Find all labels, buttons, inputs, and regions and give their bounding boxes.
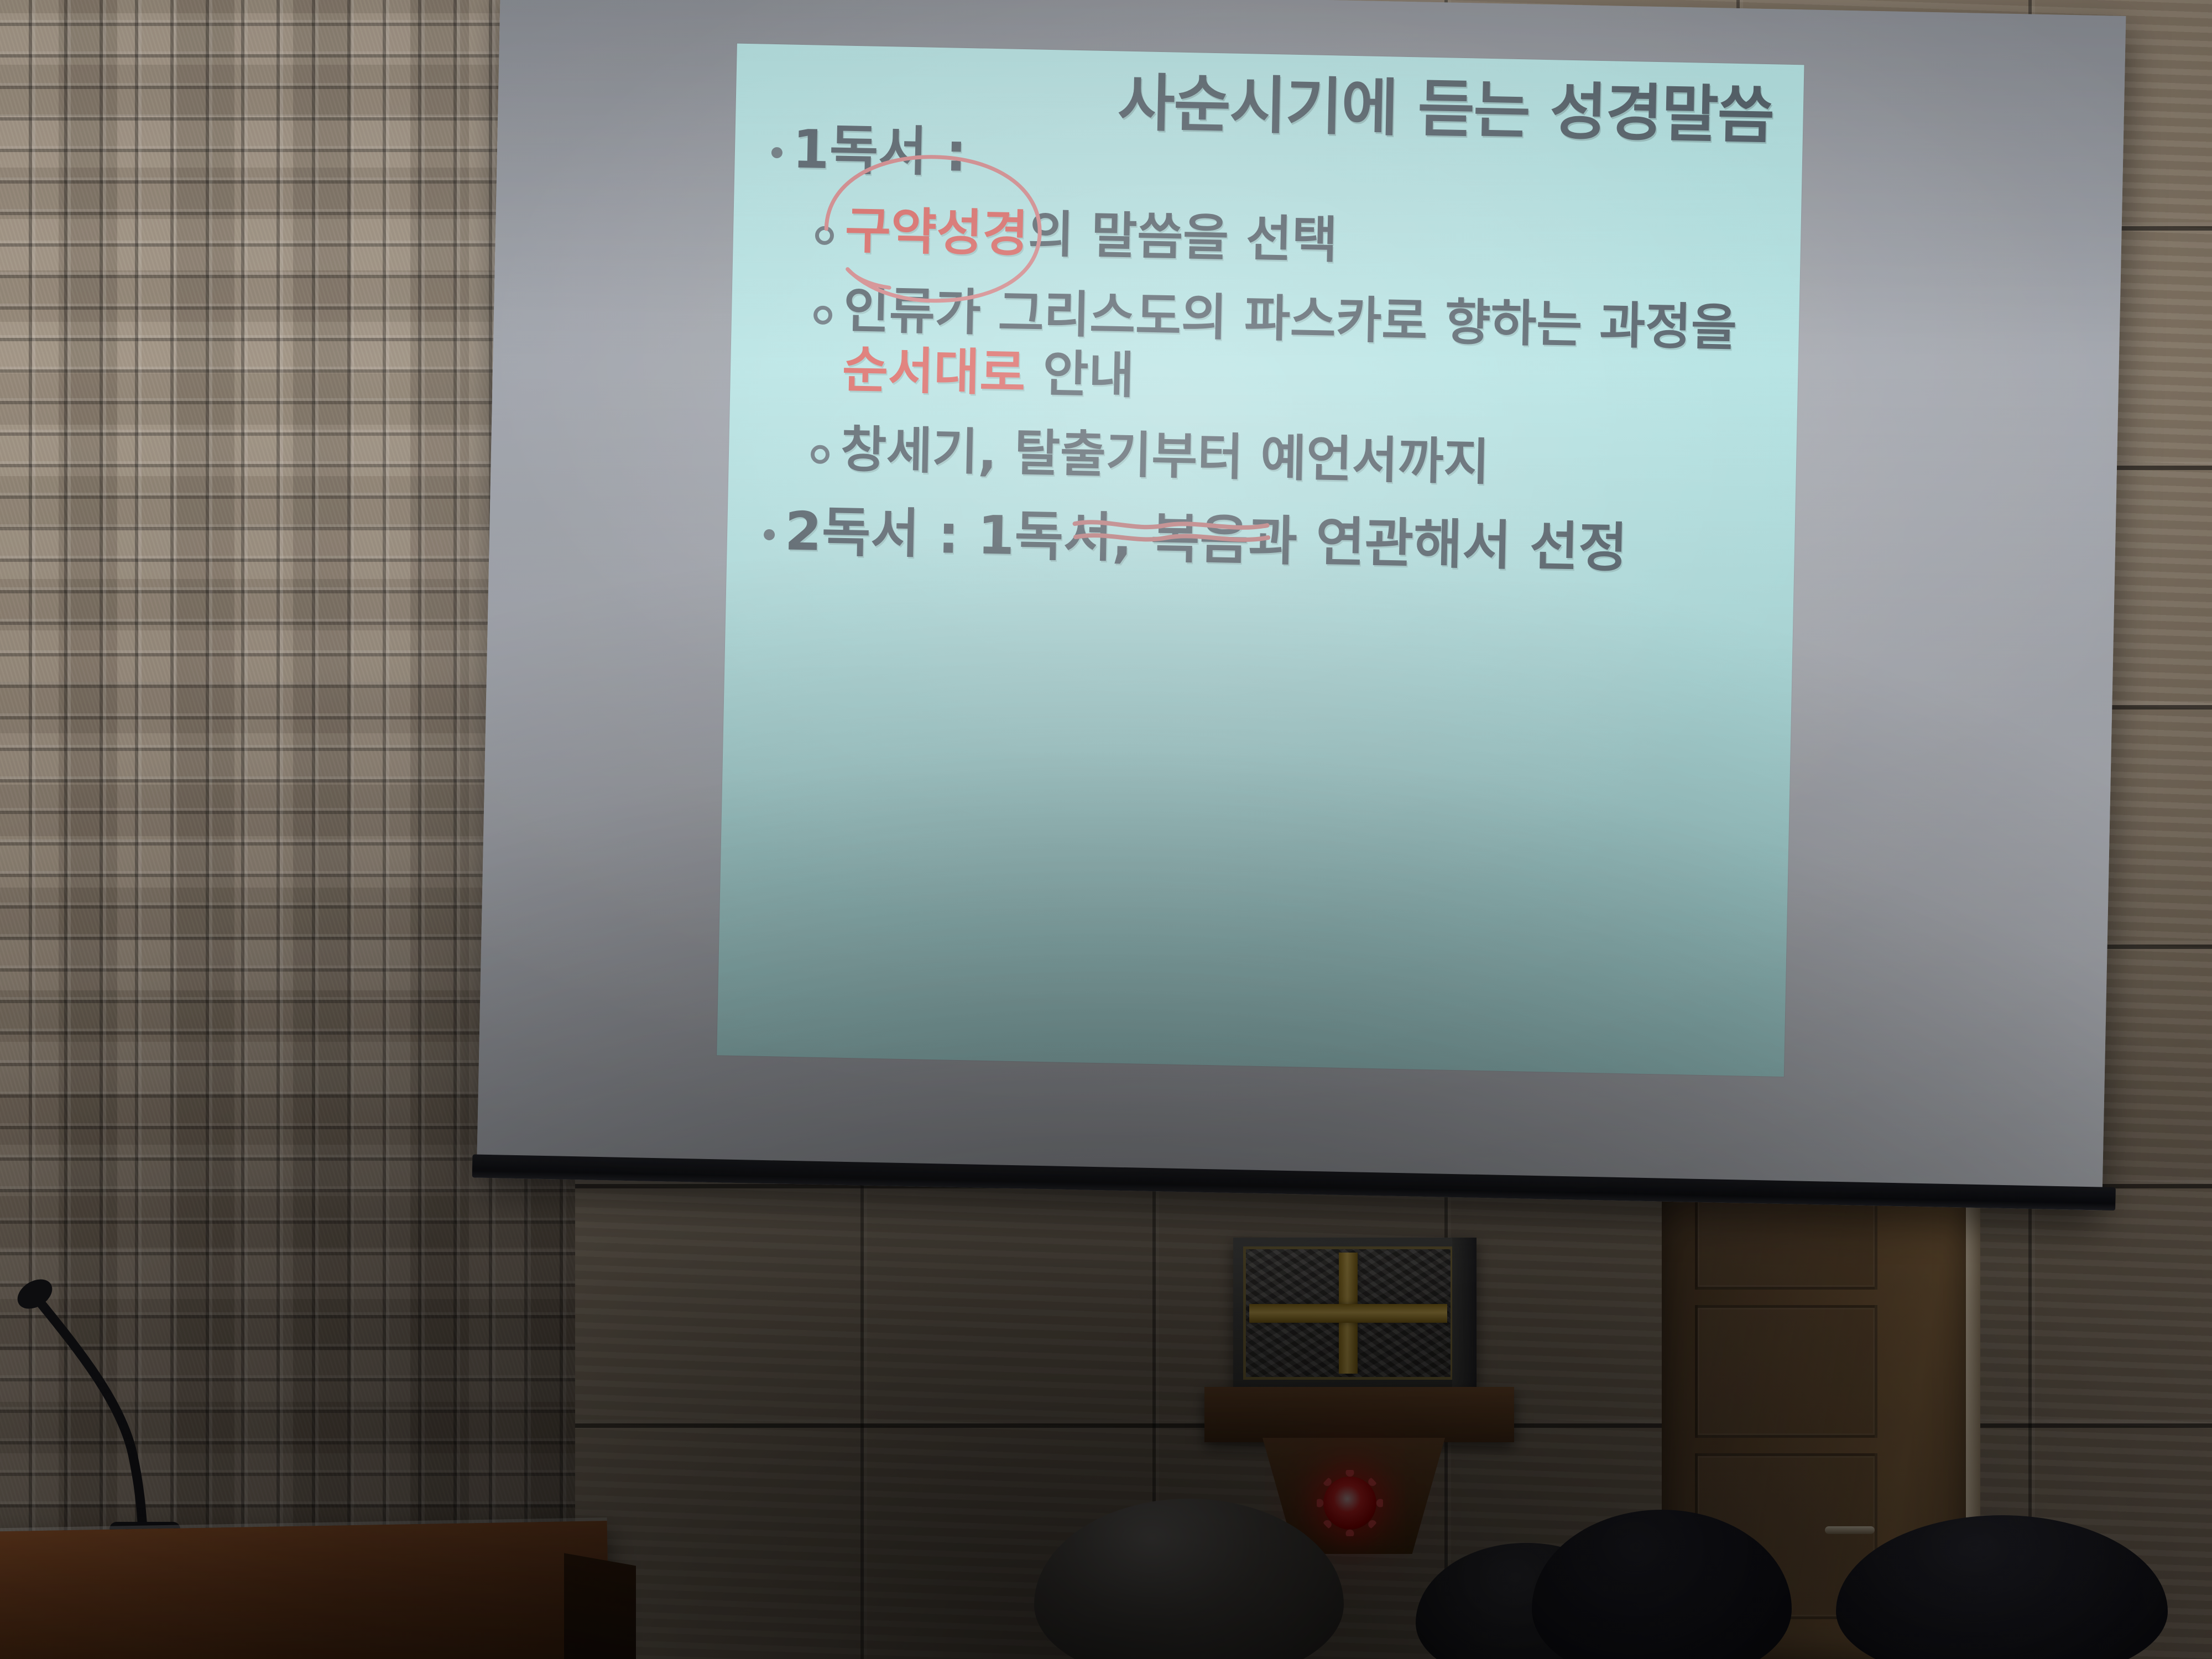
door-handle[interactable] <box>1825 1526 1875 1534</box>
bullet-item-2-text: 구약성경의 말씀을 선택 <box>844 201 1338 271</box>
tabernacle-relief-panel <box>1243 1246 1453 1380</box>
tabernacle-shelf <box>1204 1387 1514 1442</box>
slide-bullet-list: 1독서 : 구약성경의 말씀을 선택 <box>761 118 1776 582</box>
projection-screen: 사순시기에 듣는 성경말씀 1독서 : 구약성경의 말씀을 선택 <box>477 0 2126 1211</box>
sanctuary-lamp-beads <box>1317 1470 1383 1536</box>
bullet-item-5-text: 2독서 : 1독서, 복음과 연관해서 선정 <box>784 500 1628 579</box>
highlight-gushin: 구약성경 <box>844 202 1029 264</box>
door-panel-middle <box>1695 1305 1877 1438</box>
sanctuary-lamp-icon <box>1323 1477 1376 1530</box>
bullet-ring-icon <box>811 445 830 464</box>
ambo-side-panel <box>564 1553 636 1659</box>
bullet-item-3-part-3: 안내 <box>1025 345 1135 405</box>
bullet-ring-icon <box>815 226 834 245</box>
bullet-item-2: 구약성경의 말씀을 선택 <box>815 200 1775 279</box>
bullet-item-4: 창세기, 탈출기부터 예언서까지 <box>810 419 1770 498</box>
bullet-item-3: 인류가 그리스도의 파스카로 향하는 과정을 순서대로 안내 <box>812 280 1773 419</box>
bullet-dot-icon <box>764 529 775 540</box>
bullet-item-3-text: 인류가 그리스도의 파스카로 향하는 과정을 순서대로 안내 <box>842 281 1740 418</box>
photo-scene: 사순시기에 듣는 성경말씀 1독서 : 구약성경의 말씀을 선택 <box>0 0 2212 1659</box>
bullet-dot-icon <box>771 147 782 158</box>
bullet-item-1-text: 1독서 : <box>792 118 967 184</box>
bullet-item-4-text: 창세기, 탈출기부터 예언서까지 <box>840 420 1490 493</box>
tabernacle-side <box>1452 1238 1477 1390</box>
bullet-item-2-rest: 의 말씀을 선택 <box>1027 205 1338 269</box>
highlight-sunseodaero: 순서대로 <box>842 341 1026 403</box>
tabernacle <box>1233 1238 1477 1390</box>
ambo-lectern <box>0 1521 609 1659</box>
gold-cross-icon-crossbar <box>1249 1304 1447 1323</box>
presentation-slide: 사순시기에 듣는 성경말씀 1독서 : 구약성경의 말씀을 선택 <box>717 44 1804 1077</box>
bullet-item-5: 2독서 : 1독서, 복음과 연관해서 선정 <box>763 500 1768 582</box>
bullet-ring-icon <box>813 305 833 325</box>
